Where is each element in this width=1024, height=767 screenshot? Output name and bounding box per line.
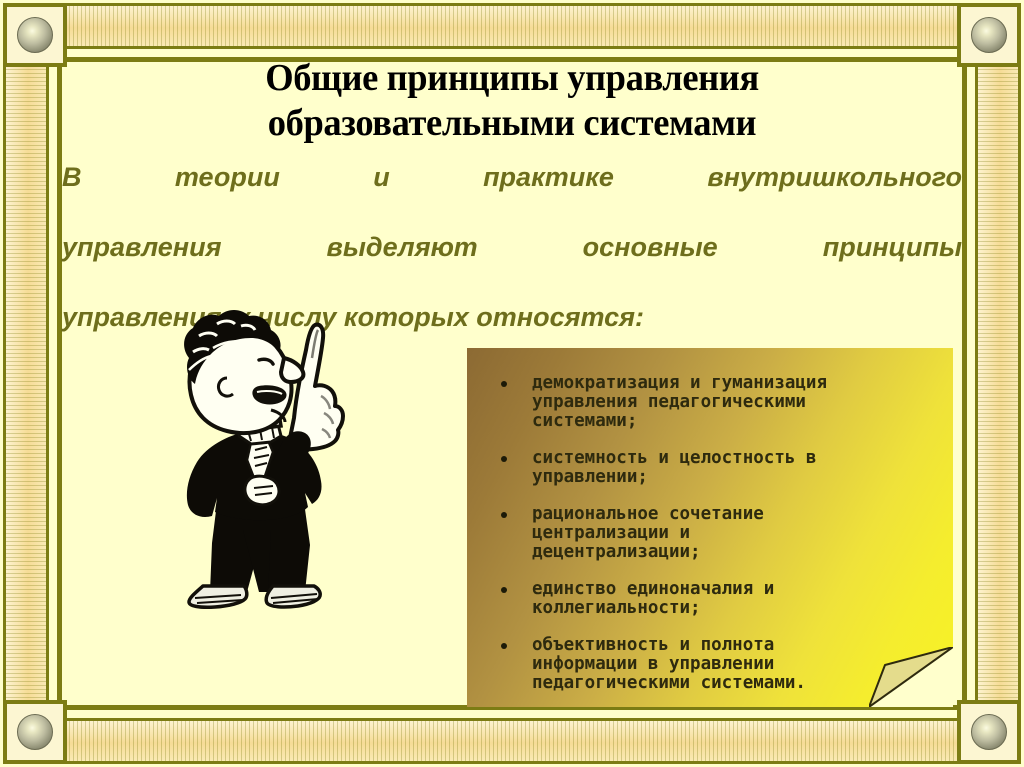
intro-line-1: В теории и практике внутришкольного [62,160,962,230]
list-item-line: рациональное сочетание [532,505,935,524]
list-item-line: демократизация и гуманизация [532,374,935,393]
list-item-line: децентрализации; [532,543,935,562]
presentation-slide: Общие принципы управления образовательны… [0,0,1024,767]
frame-band-right [975,62,1021,705]
list-item-line: единство единоначалия и [532,580,935,599]
bullet-dot-icon [501,587,507,593]
list-item-line: централизации и [532,524,935,543]
pointing-man-illustration [155,300,390,625]
pointing-man-figure [184,310,343,607]
list-item-line: управлении; [532,468,935,487]
list-item: системность и целостность в управлении; [499,449,935,487]
bullet-dot-icon [501,512,507,518]
corner-ornament-bottom-right [957,700,1021,764]
bead-icon [971,714,1007,750]
list-item: демократизация и гуманизация управления … [499,374,935,431]
list-item-line: педагогическими системами. [532,674,935,693]
corner-ornament-bottom-left [3,700,67,764]
list-item-line: коллегиальности; [532,599,935,618]
bead-icon [971,17,1007,53]
list-item: объективность и полнота информации в упр… [499,636,935,693]
bullet-dot-icon [501,643,507,649]
corner-ornament-top-left [3,3,67,67]
bead-icon [17,17,53,53]
list-item: единство единоначалия и коллегиальности; [499,580,935,618]
principles-box: демократизация и гуманизация управления … [467,348,953,707]
bead-icon [17,714,53,750]
slide-title-line-1: Общие принципы управления [88,56,937,101]
frame-band-left [3,62,49,705]
list-item-line: информации в управлении [532,655,935,674]
principles-list: демократизация и гуманизация управления … [467,348,953,707]
bullet-dot-icon [501,381,507,387]
list-item-line: управления педагогическими [532,393,935,412]
list-item-line: системами; [532,412,935,431]
list-item-line: объективность и полнота [532,636,935,655]
frame-band-bottom [62,718,962,764]
frame-rule-right [962,62,967,705]
frame-band-top [62,3,962,49]
slide-title-line-2: образовательными системами [88,101,937,146]
bullet-dot-icon [501,456,507,462]
frame-rule-left [57,62,62,705]
corner-ornament-top-right [957,3,1021,67]
list-item-line: системность и целостность в [532,449,935,468]
intro-line-2: управления выделяют основные принципы [62,230,962,300]
list-item: рациональное сочетание централизации и д… [499,505,935,562]
slide-title: Общие принципы управления образовательны… [88,56,937,146]
